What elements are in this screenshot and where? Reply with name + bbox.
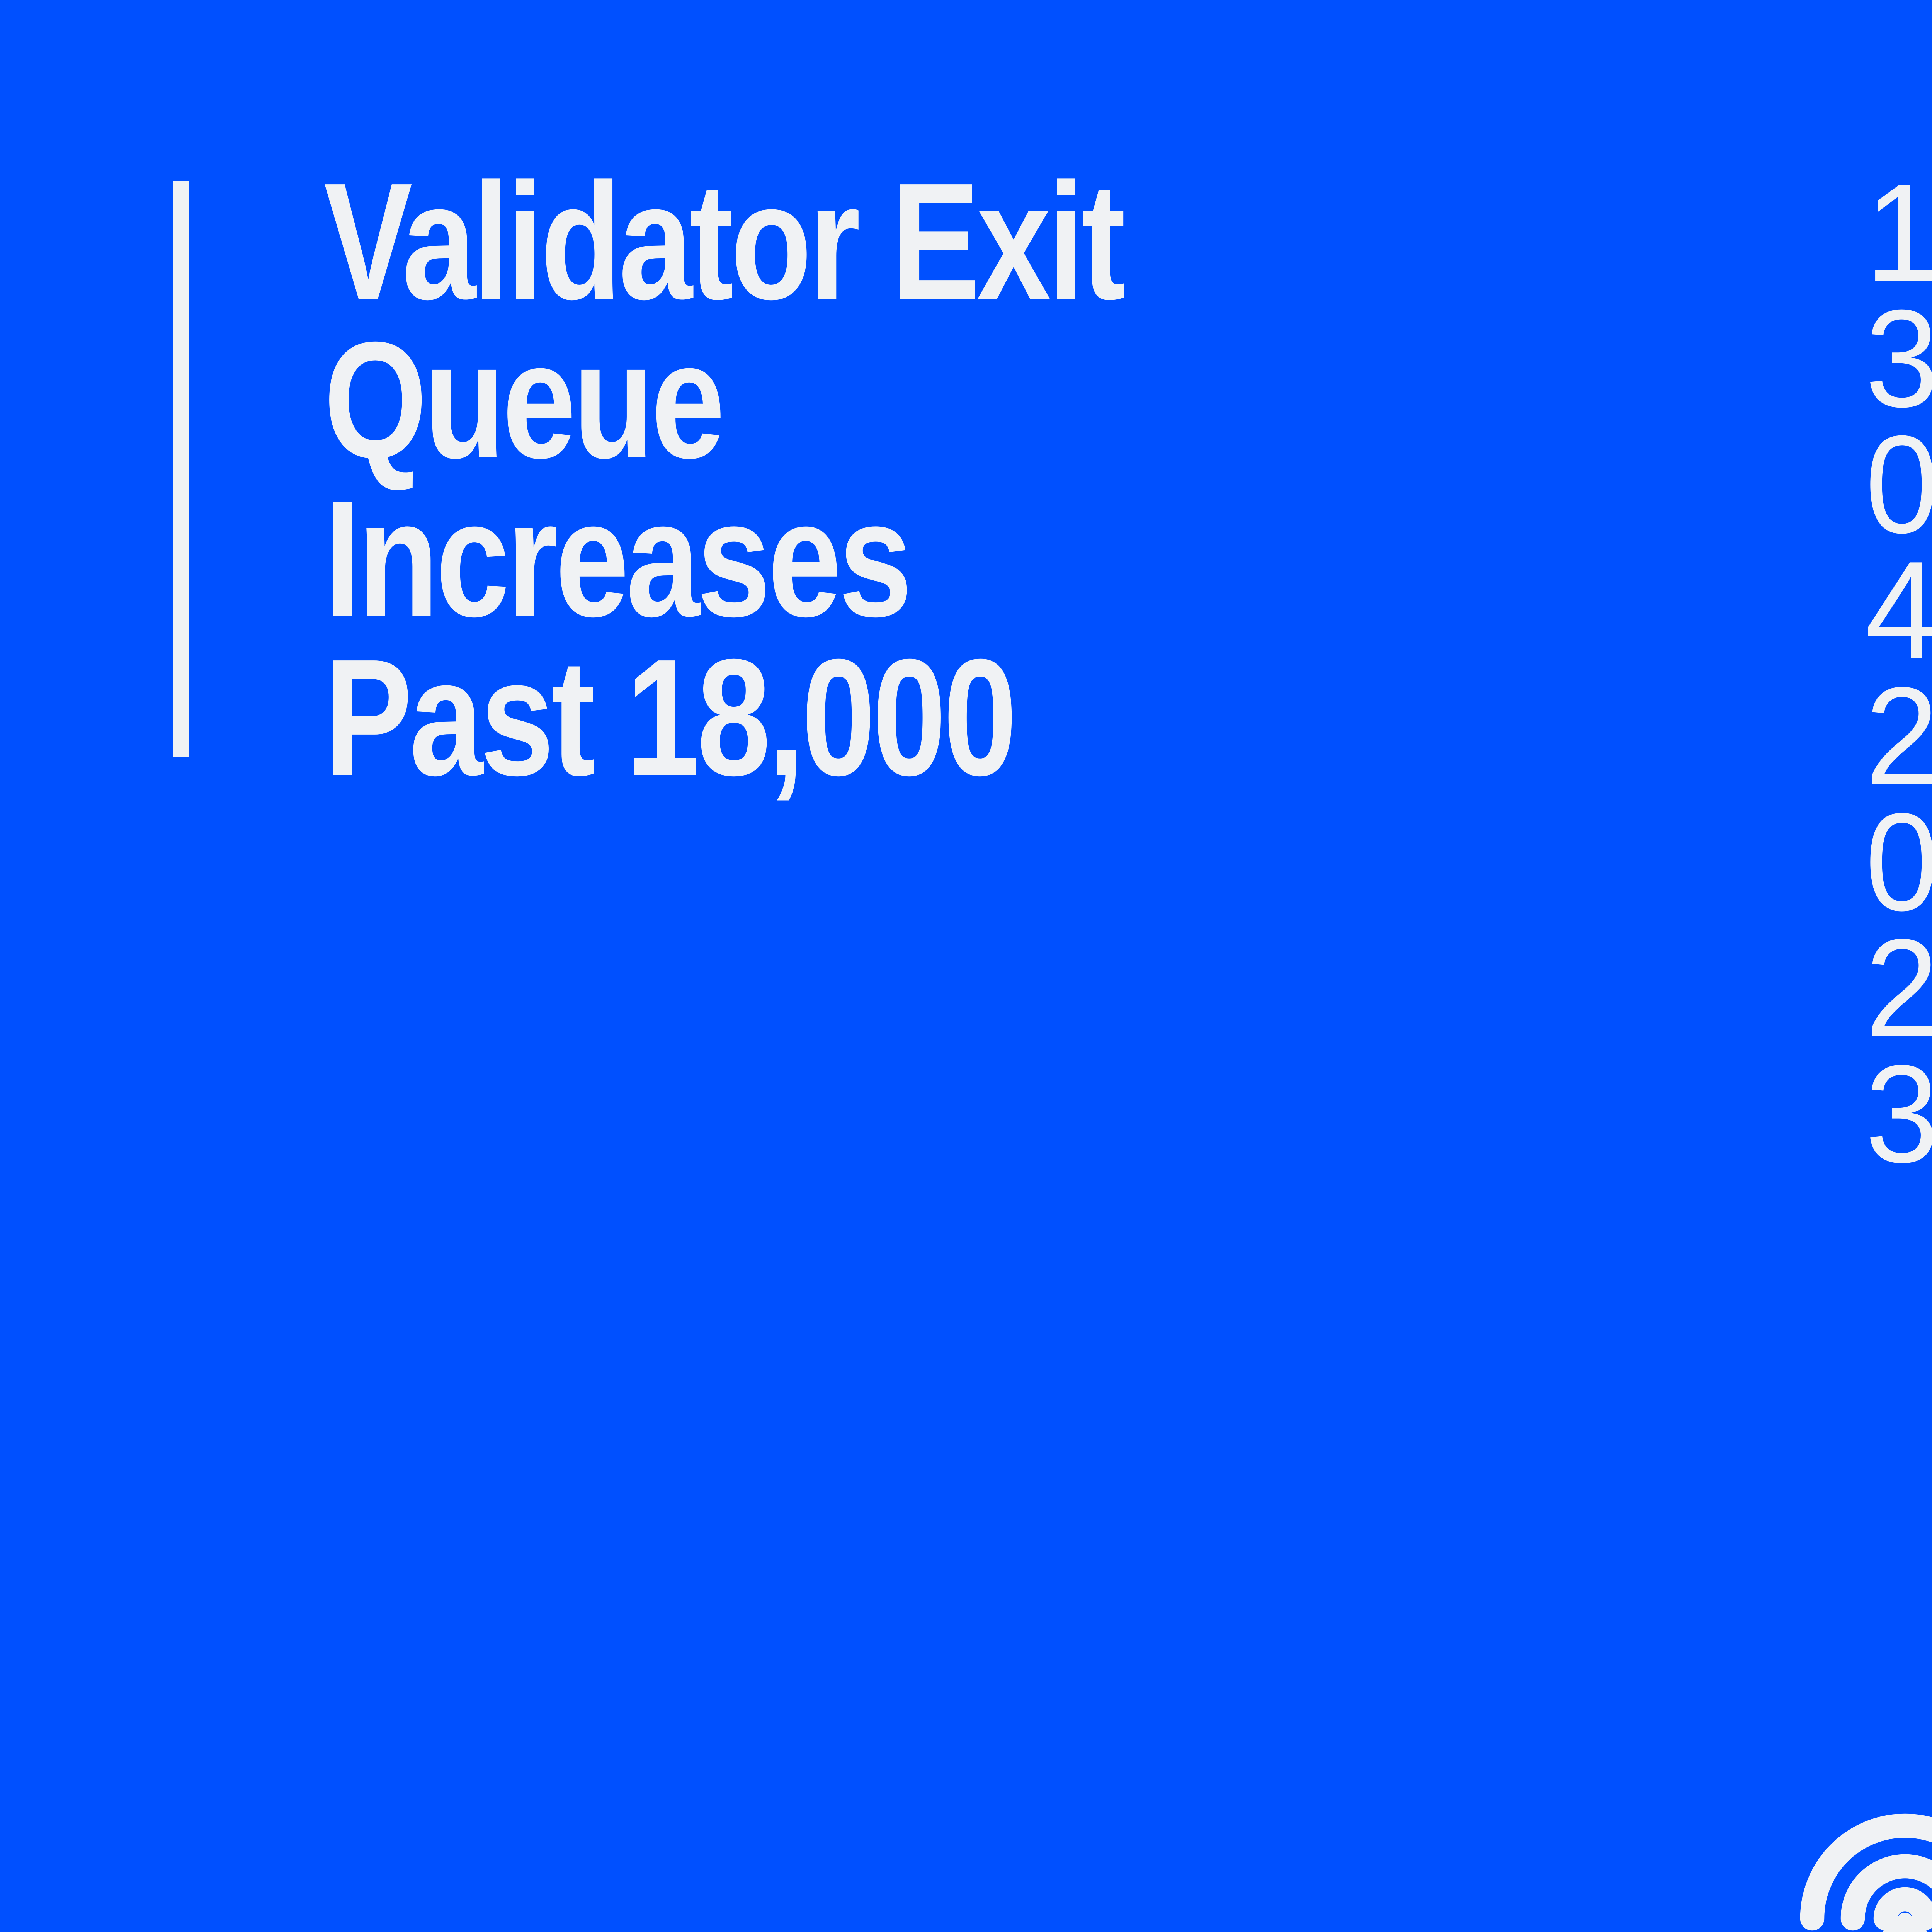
headline-block: Validator Exit Queue Increases Past 18,0…: [324, 162, 1676, 797]
date-digit-4: 4: [1865, 548, 1932, 673]
headline-accent-rule: [173, 181, 189, 757]
headline-line-2: Queue: [324, 321, 1406, 480]
issue-number: /189: [750, 1929, 964, 1932]
date-digit-5: 2: [1865, 673, 1932, 799]
date-digit-7: 2: [1865, 925, 1932, 1051]
headline-line-1: Validator Exit: [324, 162, 1406, 321]
date-stack: 1 3 0 4 2 0 2 3: [1840, 170, 1932, 1177]
headline-line-3: Increases: [324, 480, 1406, 638]
date-digit-8: 3: [1865, 1051, 1932, 1177]
date-digit-6: 0: [1865, 799, 1932, 925]
eth-daily-news-card: Validator Exit Queue Increases Past 18,0…: [0, 0, 1932, 1932]
date-digit-3: 0: [1865, 422, 1932, 548]
date-digit-1: 1: [1865, 170, 1932, 296]
site-url[interactable]: ethdaily.io: [185, 1929, 720, 1932]
date-digit-2: 3: [1865, 296, 1932, 422]
headline-line-4: Past 18,000: [324, 638, 1406, 797]
broadcast-tower-icon: [1774, 1776, 1932, 1932]
